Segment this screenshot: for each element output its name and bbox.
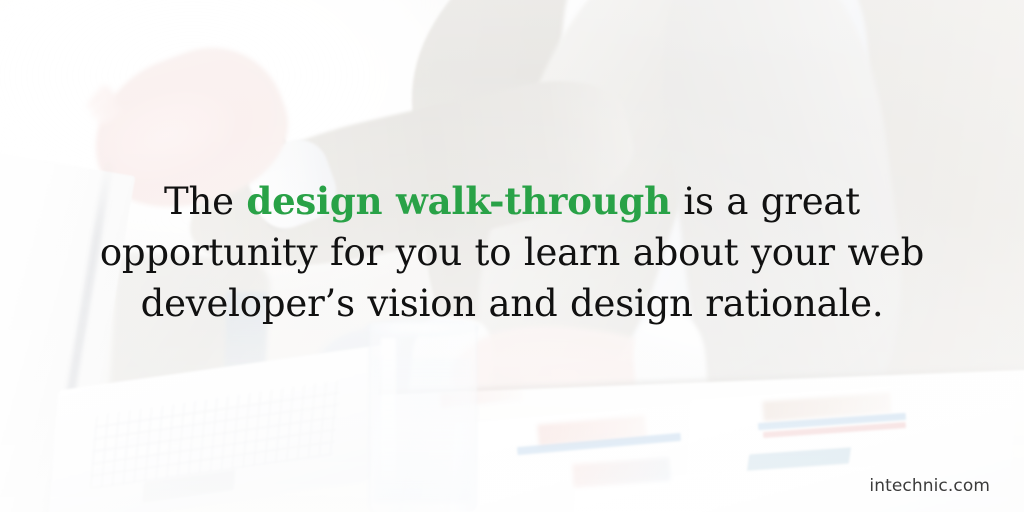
- quote-highlight: design walk-through: [246, 179, 670, 223]
- quote-card: The design walk-through is a great oppor…: [0, 0, 1024, 512]
- quote-line-2: opportunity for you to learn about your …: [40, 227, 984, 278]
- glass-highlight: [381, 338, 396, 481]
- site-watermark: intechnic.com: [869, 476, 990, 496]
- quote-text: The design walk-through is a great oppor…: [0, 176, 1024, 329]
- quote-line-1: The design walk-through is a great: [40, 176, 984, 227]
- quote-line-1-suffix: is a great: [671, 180, 860, 223]
- quote-line-1-prefix: The: [164, 180, 246, 223]
- quote-line-3: developer’s vision and design rationale.: [40, 278, 984, 329]
